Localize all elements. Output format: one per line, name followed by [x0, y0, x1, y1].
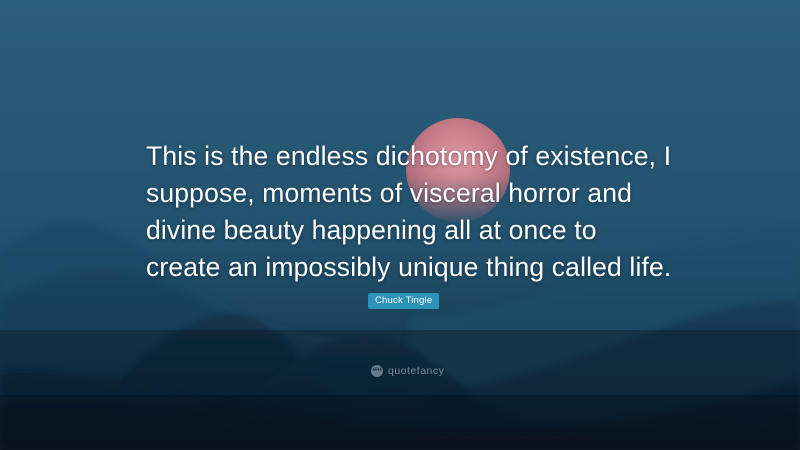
- quote-line-4: create an impossibly unique thing called…: [146, 249, 666, 286]
- quote-image-canvas: This is the endless dichotomy of existen…: [0, 0, 800, 450]
- quotefancy-watermark[interactable]: ““ quotefancy: [371, 365, 444, 377]
- quote-text-block: This is the endless dichotomy of existen…: [146, 138, 666, 286]
- quote-line-3: divine beauty happening all at once to: [146, 212, 666, 249]
- author-name: Chuck Tingle: [375, 296, 432, 306]
- author-badge[interactable]: Chuck Tingle: [368, 293, 439, 309]
- watermark-brand-label: quotefancy: [388, 366, 444, 377]
- watermark-icon-glyph: ““: [373, 368, 382, 378]
- quote-line-2: suppose, moments of visceral horror and: [146, 175, 666, 212]
- quote-mark-circle-icon: ““: [371, 365, 383, 377]
- quote-line-1: This is the endless dichotomy of existen…: [146, 138, 666, 175]
